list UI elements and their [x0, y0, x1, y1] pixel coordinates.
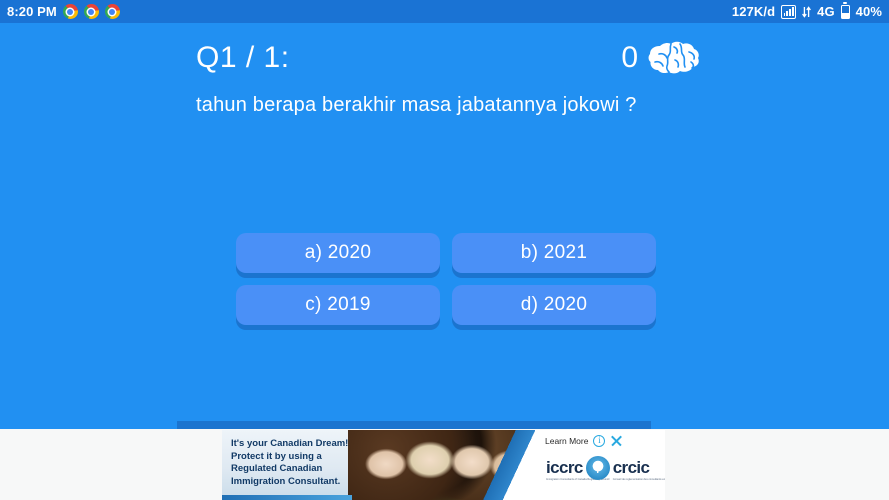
battery-icon — [841, 5, 850, 19]
chrome-notification-icon[interactable] — [84, 4, 99, 19]
ad-logo-left-text: iccrc — [546, 458, 583, 477]
status-bar-left: 8:20 PM — [7, 4, 120, 19]
question-counter: Q1 / 1: — [196, 41, 290, 75]
ad-right-panel: Learn More i iccrc Immigration Consultan… — [542, 430, 665, 500]
question-text: tahun berapa berakhir masa jabatannya jo… — [196, 92, 701, 118]
close-icon[interactable] — [610, 434, 623, 447]
network-type-label: 4G — [817, 4, 835, 19]
ad-learn-more-label[interactable]: Learn More — [545, 436, 588, 446]
ad-accent-strip — [222, 495, 352, 500]
info-circle-icon[interactable]: i — [593, 435, 605, 447]
ad-logo: iccrc Immigration Consultants of Canada … — [546, 456, 649, 480]
answer-button-a[interactable]: a) 2020 — [236, 233, 440, 273]
score-display: 0 — [621, 38, 701, 78]
ad-headline: It's your Canadian Dream! Protect it by … — [231, 438, 359, 488]
battery-percent-label: 40% — [856, 4, 882, 19]
answer-button-b[interactable]: b) 2021 — [452, 233, 656, 273]
ad-left-panel: It's your Canadian Dream! Protect it by … — [222, 430, 542, 500]
app-screen: 8:20 PM 127K/d 4G 40% Q1 / 1: 0 — [0, 0, 889, 500]
clock-time: 8:20 PM — [7, 4, 57, 19]
ad-banner[interactable]: It's your Canadian Dream! Protect it by … — [222, 430, 665, 500]
ad-top-divider — [177, 421, 651, 429]
chrome-notification-icon[interactable] — [63, 4, 78, 19]
maple-leaf-emblem-icon — [586, 456, 610, 480]
signal-bars-icon — [781, 5, 796, 19]
brain-icon — [647, 38, 701, 78]
ad-family-photo — [348, 430, 542, 500]
ad-logo-right-text: crcic — [613, 458, 650, 477]
ad-logo-right-subtext: Conseil de reglementation des consultant… — [613, 478, 665, 481]
ad-learn-more-row: Learn More i — [545, 434, 623, 447]
chrome-notification-icon[interactable] — [105, 4, 120, 19]
data-transfer-arrows-icon — [802, 5, 811, 19]
answer-button-c[interactable]: c) 2019 — [236, 285, 440, 325]
answer-button-d[interactable]: d) 2020 — [452, 285, 656, 325]
quiz-header: Q1 / 1: 0 — [196, 36, 701, 80]
score-value: 0 — [621, 41, 638, 75]
status-bar-right: 127K/d 4G 40% — [732, 4, 882, 19]
status-bar: 8:20 PM 127K/d 4G 40% — [0, 0, 889, 23]
data-rate-label: 127K/d — [732, 4, 775, 19]
answers-grid: a) 2020 b) 2021 c) 2019 d) 2020 — [236, 233, 656, 325]
